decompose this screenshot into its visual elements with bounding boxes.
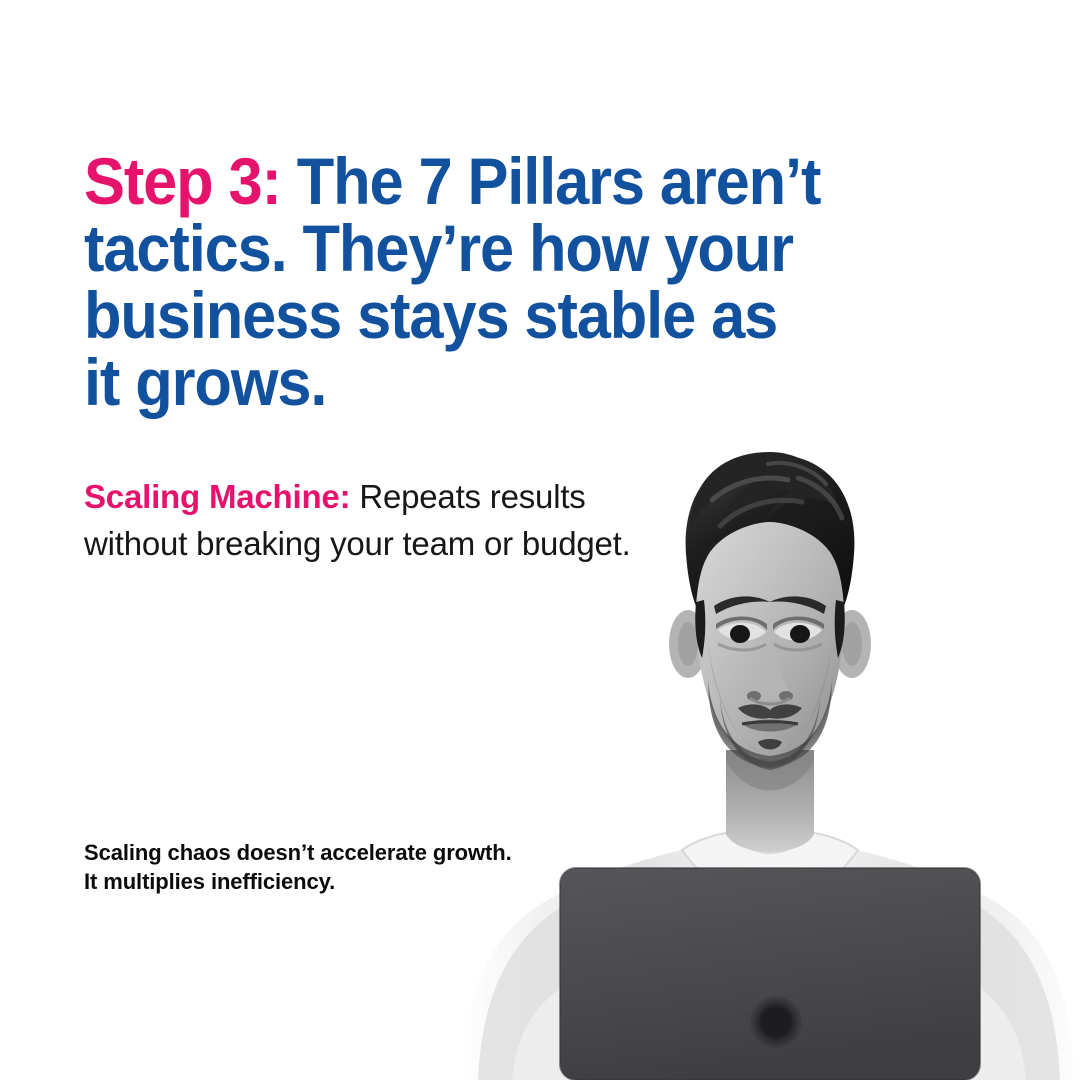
laptop-logo-icon	[750, 996, 802, 1048]
body-copy: Scaling Machine: Repeats results without…	[84, 473, 684, 567]
footer-line-1: Scaling chaos doesn’t accelerate growth.	[84, 838, 514, 867]
laptop	[560, 868, 980, 1080]
headline-step-label: Step 3:	[84, 144, 281, 218]
headline: Step 3: The 7 Pillars aren’t tactics. Th…	[84, 148, 828, 416]
footer-line-2: It multiplies inefficiency.	[84, 867, 514, 896]
social-post-canvas: Step 3: The 7 Pillars aren’t tactics. Th…	[0, 0, 1080, 1080]
footer-note: Scaling chaos doesn’t accelerate growth.…	[84, 838, 514, 896]
body-copy-lead-label: Scaling Machine:	[84, 478, 350, 515]
